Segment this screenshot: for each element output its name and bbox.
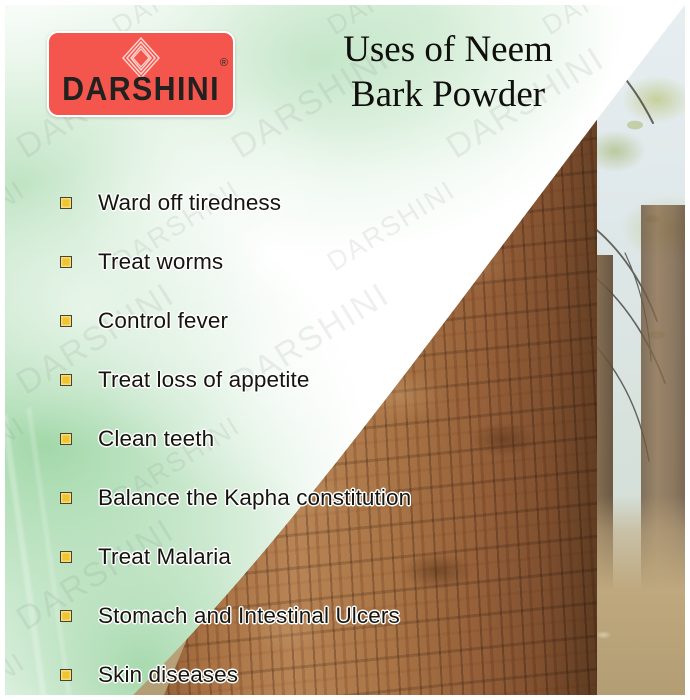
list-item-label: Balance the Kapha constitution xyxy=(98,485,411,511)
bullet-square-icon xyxy=(60,197,72,209)
list-item-label: Control fever xyxy=(98,308,228,334)
darshini-logo[interactable]: DARSHINI ® xyxy=(47,31,235,117)
bullet-square-icon xyxy=(60,256,72,268)
list-item: Control fever xyxy=(60,291,580,350)
bullet-square-icon xyxy=(60,551,72,563)
list-item-label: Skin diseases xyxy=(98,662,238,688)
list-item: Skin diseases xyxy=(60,645,580,695)
bullet-square-icon xyxy=(60,610,72,622)
list-item: Balance the Kapha constitution xyxy=(60,468,580,527)
list-item-label: Ward off tiredness xyxy=(98,190,281,216)
registered-mark: ® xyxy=(220,57,228,69)
page-title: Uses of Neem Bark Powder xyxy=(287,27,609,117)
bullet-square-icon xyxy=(60,374,72,386)
list-item-label: Treat Malaria xyxy=(98,544,231,570)
bullet-square-icon xyxy=(60,669,72,681)
list-item: Treat Malaria xyxy=(60,527,580,586)
list-item-label: Treat worms xyxy=(98,249,223,275)
title-line-2: Bark Powder xyxy=(287,72,609,117)
list-item-label: Stomach and Intestinal Ulcers xyxy=(98,603,400,629)
logo-wordmark: DARSHINI xyxy=(55,71,228,107)
title-line-1: Uses of Neem xyxy=(287,27,609,72)
list-item: Ward off tiredness xyxy=(60,173,580,232)
list-item: Stomach and Intestinal Ulcers xyxy=(60,586,580,645)
list-item-label: Clean teeth xyxy=(98,426,214,452)
poster-root: DARSHINIDARSHINIDARSHINIDARSHINIDARSHINI… xyxy=(0,0,690,700)
bullet-square-icon xyxy=(60,492,72,504)
benefits-list: Ward off tirednessTreat wormsControl fev… xyxy=(60,173,580,695)
list-item: Treat loss of appetite xyxy=(60,350,580,409)
list-item: Clean teeth xyxy=(60,409,580,468)
list-item-label: Treat loss of appetite xyxy=(98,367,309,393)
poster-canvas: DARSHINIDARSHINIDARSHINIDARSHINIDARSHINI… xyxy=(5,5,685,695)
list-item: Treat worms xyxy=(60,232,580,291)
bullet-square-icon xyxy=(60,315,72,327)
bullet-square-icon xyxy=(60,433,72,445)
